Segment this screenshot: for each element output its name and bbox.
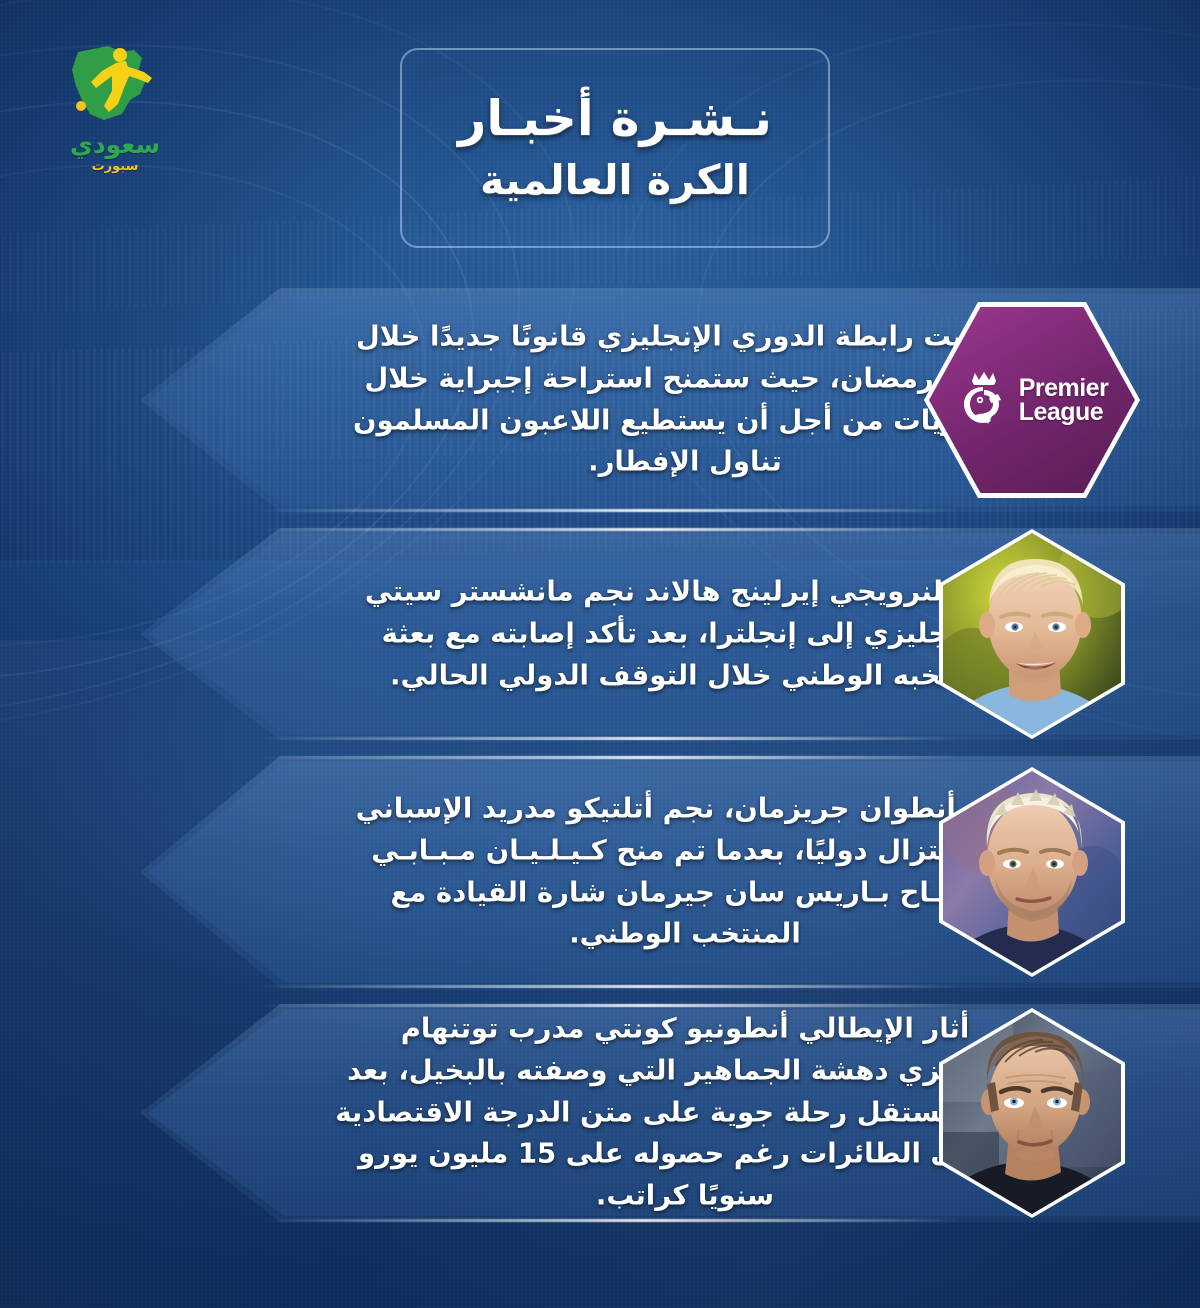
- news-item[interactable]: هدد أنطوان جريزمان، نجم أتلتيكو مدريد ال…: [0, 756, 1200, 988]
- news-text: هدد أنطوان جريزمان، نجم أتلتيكو مدريد ال…: [335, 788, 1035, 955]
- pl-lion-icon: [956, 369, 1012, 431]
- panel-divider-glow: [260, 737, 960, 740]
- antoine-griezmann-photo: [939, 767, 1125, 977]
- panel-divider-glow: [260, 509, 960, 512]
- panel-divider-glow: [260, 1004, 960, 1007]
- panel-divider-glow: [260, 1219, 960, 1222]
- page-title-box: نـشـرة أخبـار الكرة العالمية: [400, 48, 830, 248]
- antonio-conte-photo: [939, 1008, 1125, 1218]
- news-item[interactable]: فرضت رابطة الدوري الإنجليزي قانونًا جديد…: [0, 288, 1200, 512]
- news-item[interactable]: أثار الإيطالي أنطونيو كونتي مدرب توتنهام…: [0, 1004, 1200, 1222]
- player-portrait: [943, 771, 1121, 973]
- erling-haaland-photo: [939, 529, 1125, 739]
- premier-league-logo: Premier League: [924, 302, 1140, 498]
- player-portrait: [943, 533, 1121, 735]
- pl-word-premier: Premier: [1019, 376, 1109, 401]
- page-title-line2: الكرة العالمية: [480, 156, 750, 205]
- page-title-line1: نـشـرة أخبـار: [458, 91, 772, 147]
- panel-divider-glow: [260, 528, 960, 531]
- logo-brand-sub: سبورت: [55, 160, 175, 173]
- pl-word-league: League: [1019, 400, 1109, 425]
- coach-portrait: [943, 1012, 1121, 1214]
- premier-league-wordmark: Premier League: [1019, 376, 1109, 425]
- panel-divider-glow: [260, 985, 960, 988]
- news-text: عاد النرويجي إيرلينج هالاند نجم مانشستر …: [335, 571, 1035, 696]
- brand-logo[interactable]: سعودي سبورت: [55, 42, 175, 172]
- news-text: أثار الإيطالي أنطونيو كونتي مدرب توتنهام…: [335, 1009, 1035, 1218]
- logo-brand-name: سعودي: [55, 132, 175, 157]
- news-item[interactable]: عاد النرويجي إيرلينج هالاند نجم مانشستر …: [0, 528, 1200, 740]
- panel-divider-glow: [260, 756, 960, 759]
- saudi-map-footballer-icon: [60, 42, 170, 130]
